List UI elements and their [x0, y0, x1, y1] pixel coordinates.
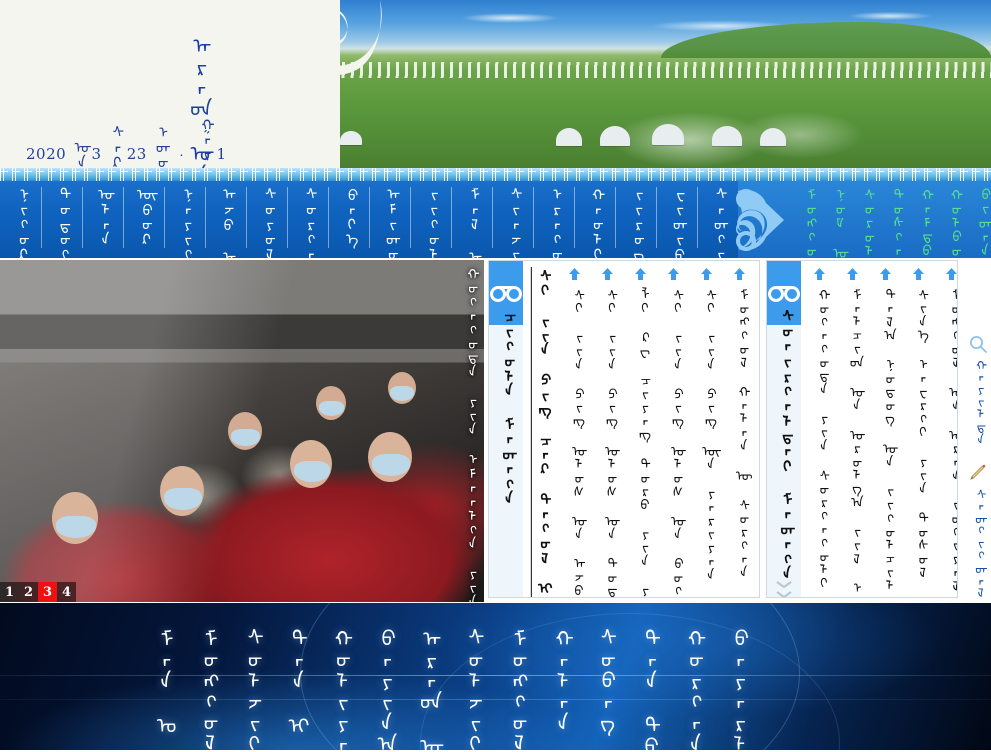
bullet-arrow-icon	[569, 268, 580, 280]
face-mask-icon	[294, 461, 330, 482]
site-header: 人民网 mongol.people.cn ᠠᠷᠠᠳ ᠤᠨ ᠰᠦᠯᠵᠢᠶ᠎ᠡ 20…	[0, 0, 991, 168]
footer-slogan-word: ᠰᠦᠯᠵᠢᠶ᠎ᠡ	[238, 627, 262, 750]
bullet-arrow-icon	[880, 268, 891, 280]
face-mask-icon	[231, 429, 260, 446]
news-item-text: ᠮᠠᠯᠴᠢᠳ ᠤᠨ ᠣᠷᠣᠯᠭ᠎ᠠ ᠵᠢᠯ ᠡᠴᠡ ᠵᠢᠯ ᠨᠡᠮᠡᠭᠳᠡᠵᠦ …	[845, 287, 861, 597]
nav-sub-item-label: ᠬᠠᠮᠲᠤ ᠠᠵᠢᠯᠯᠠᠭ᠎ᠠ	[916, 187, 932, 258]
nav-sub-item-1[interactable]: ᠨᠣᠮ ᠤᠨ ᠰᠠᠩ	[823, 187, 852, 258]
bullet-arrow-icon	[847, 268, 858, 280]
main-content: ᠬᠥᠬᠡᠬᠣᠲᠠ ᠶᠢᠨ ᠡᠮᠨᠡᠯᠭᠡ ᠶᠢᠨ ᠲᠤᠰᠠᠯᠠᠮᠵᠢ ᠶᠢᠨ ᠠ…	[0, 258, 991, 603]
nav-item-label: ᠵᠢᠷᠤᠭ ᠰᠡᠭᠦᠳᠡᠷ	[627, 186, 644, 258]
nav-secondary-panel: ᠮᠣᠩᠭᠣᠯ ᠰᠤᠷᠭᠠᠯᠨᠣᠮ ᠤᠨ ᠰᠠᠩᠰᠤᠷᠤᠯᠭ᠎ᠠᠲᠤᠰᠬᠠᠢ ᠰᠡ…	[738, 181, 991, 258]
nav-item-label: ᠡᠷᠡᠭᠦᠯ ᠮᠡᠨᠳᠦ	[545, 186, 562, 258]
footer-slogan-word: ᠮᠣᠩᠭᠣᠯ	[194, 627, 218, 750]
page-root: 人民网 mongol.people.cn ᠠᠷᠠᠳ ᠤᠨ ᠰᠦᠯᠵᠢᠶ᠎ᠡ 20…	[0, 0, 991, 752]
panel-tab-featured: ᠰᠣᠨᠢᠷᠬᠠᠯᠲᠠᠢ ᠮᠡᠳᠡᠭᠡ	[767, 261, 801, 597]
face-mask-icon	[319, 401, 344, 416]
bullet-arrow-icon	[602, 267, 613, 285]
nav-item-label: ᠮᠠᠯ ᠠᠵᠤ ᠠᠬᠤᠢ	[463, 186, 480, 258]
nav-item-1[interactable]: ᠳᠣᠲᠣᠭᠠᠳᠤ ᠮᠡᠳᠡᠭᠡ	[41, 181, 82, 258]
bullet-arrow-icon	[668, 267, 679, 285]
news-item[interactable]: ᠥᠪᠥᠷ ᠮᠣᠩᠭᠣᠯ ᠤᠨ ᠠᠵᠤ ᠠᠬᠤᠢ ᠲᠣᠭᠲᠠᠭᠤᠨ ᠬᠥᠭᠵᠢᠵᠦ…	[756, 267, 759, 591]
bullet-arrow-icon	[880, 267, 891, 285]
nav-item-10[interactable]: ᠵᠢᠭᠤᠯᠴᠢᠯᠠᠯ	[410, 181, 451, 258]
footer-slogan-word: ᠮᠠᠨ ᠤ	[150, 627, 174, 735]
nav-item-13[interactable]: ᠡᠷᠡᠭᠦᠯ ᠮᠡᠨᠳᠦ	[533, 181, 574, 258]
main-navigation: ᠨᠢᠭᠤᠷ ᠬᠠᠭᠤᠳᠠᠰᠤᠳᠣᠲᠣᠭᠠᠳᠤ ᠮᠡᠳᠡᠭᠡᠣᠯᠠᠨ ᠤᠯᠤᠰᠥᠪ…	[0, 181, 991, 258]
nav-item-label: ᠬᠠᠤᠯᠢ ᠴᠠᠭᠠᠵᠠ	[586, 186, 603, 258]
news-list-featured: ᠬᠥᠬᠡᠬᠣᠲᠠ ᠶᠢᠨ ᠰᠤᠷᠭᠠᠭᠤᠯᠢ ᠨᠤᠭᠤᠳ ᠬᠢᠴᠢᠶᠡᠯ ᠡᠬᠢ…	[801, 261, 957, 597]
footer-slogan-word: ᠰᠦᠯᠵᠢᠶ᠎ᠡ	[459, 627, 483, 750]
footer-slogan-word: ᠮᠣᠩᠭᠣᠯ	[503, 627, 527, 750]
news-headline-text: ᠰᠢ ᠵᠢᠨ ᠫᠢᠩ ᠴᠠᠷ ᠲᠠᠬᠤᠯ ᠢ ᠰᠡᠷᠭᠡᠶᠢᠯᠡᠨ ᠬᠢᠵᠢᠭ …	[533, 267, 550, 597]
cloud-icon	[768, 283, 800, 305]
bullet-arrow-icon	[701, 268, 712, 280]
news-item-text: ᠰᠢ ᠵᠢᠨ ᠫᠢᠩ ᠤᠯᠤᠰ ᠤᠨ ᠠᠵᠤ ᠠᠬᠤᠢ ᠶᠢ ᠰᠡᠷᠭᠦᠭᠡᠬᠦ…	[567, 287, 583, 597]
news-item-text: ᠲᠠᠯ᠎ᠠ ᠨᠤᠲᠤᠭ ᠤᠨ ᠵᠢᠭᠤᠯᠴᠢᠯᠠᠯ ᠤᠨ ᠤᠯᠠᠷᠢᠯ ᠡᠬᠢᠯ…	[878, 287, 894, 597]
nav-item-7[interactable]: ᠰᠤᠷᠭᠠᠨ ᠬᠥᠮᠦᠵᠢᠯ	[287, 181, 328, 258]
header-branding: 人民网 mongol.people.cn ᠠᠷᠠᠳ ᠤᠨ ᠰᠦᠯᠵᠢᠶ᠎ᠡ 20…	[0, 0, 340, 168]
bullet-arrow-icon	[946, 268, 957, 280]
nav-item-label: ᠠᠵᠤ ᠠᠬᠤᠢ	[217, 186, 234, 258]
carousel-page-4[interactable]: 4	[57, 582, 76, 602]
footer-slogan-word: ᠪᠠᠶᠢᠨ᠎ᠠ	[371, 627, 395, 750]
footer-slogan-word: ᠪᠠᠶᠠᠷᠯᠠᠯ᠎ᠠ	[724, 627, 748, 750]
news-item[interactable]: ᠰᠢ ᠵᠢᠨ ᠫᠢᠩ ᠤᠯᠤᠰ ᠤᠨ ᠪᠥᠬᠦ ᠠᠷᠠᠳ ᠲᠦᠮᠡᠨ ᠳᠦ ᠪᠠ…	[657, 267, 690, 591]
nav-item-label: ᠥᠪᠥᠷ ᠮᠣᠩᠭᠣᠯ	[135, 186, 152, 258]
bullet-arrow-icon	[946, 267, 957, 285]
news-item[interactable]: ᠰᠢ ᠵᠢᠨ ᠫᠢᠩ ᠤᠯᠤᠰ ᠤᠨ ᠠᠵᠤ ᠠᠬᠤᠢ ᠶᠢ ᠰᠡᠷᠭᠦᠭᠡᠬᠦ…	[558, 267, 591, 591]
nav-item-0[interactable]: ᠨᠢᠭᠤᠷ ᠬᠠᠭᠤᠳᠠᠰᠤ	[0, 181, 41, 258]
footer-slogan-word: ᠲᠠᠨ ᠳᠤ	[636, 627, 660, 750]
news-item[interactable]: ᠮᠣᠩᠭᠣᠯ ᠬᠡᠯᠡᠨ ᠦ ᠰᠤᠷᠭᠠᠨ ᠬᠥᠮᠦᠵᠢᠯ ᠦᠨ ᠠᠵᠢᠯ ᠢ …	[723, 267, 756, 591]
cloud-icon	[490, 283, 522, 305]
nav-sub-item-5[interactable]: ᠬᠣᠯᠪᠣᠭ᠎ᠠ	[939, 187, 968, 258]
yurt-icon	[760, 128, 786, 146]
news-item-text: ᠮᠣᠩᠭᠣᠯ ᠬᠡᠯᠡᠨ ᠦ ᠰᠤᠷᠭᠠᠨ ᠬᠥᠮᠦᠵᠢᠯ ᠦᠨ ᠠᠵᠢᠯ ᠢ …	[732, 287, 748, 597]
nav-item-3[interactable]: ᠥᠪᠥᠷ ᠮᠣᠩᠭᠣᠯ	[123, 181, 164, 258]
bullet-arrow-icon	[701, 267, 712, 285]
news-panel-featured: ᠰᠣᠨᠢᠷᠬᠠᠯᠲᠠᠢ ᠮᠡᠳᠡᠭᠡ ᠬᠥᠬᠡᠬᠣᠲᠠ ᠶᠢᠨ ᠰᠤᠷᠭᠠᠭ	[766, 260, 958, 598]
face-mask-icon	[56, 516, 96, 538]
nav-primary-items: ᠨᠢᠭᠤᠷ ᠬᠠᠭᠤᠳᠠᠰᠤᠳᠣᠲᠣᠭᠠᠳᠤ ᠮᠡᠳᠡᠭᠡᠣᠯᠠᠨ ᠤᠯᠤᠰᠥᠪ…	[0, 181, 738, 258]
bullet-arrow-icon	[734, 267, 745, 285]
bullet-arrow-icon	[569, 267, 580, 285]
bullet-arrow-icon	[814, 268, 825, 280]
bullet-arrow-icon	[913, 268, 924, 280]
news-item-text: ᠰᠢ ᠵᠢᠨ ᠫᠢᠩ ᠦᠨ ᠶᠠᠷᠢᠶᠠᠨ ᠤ ᠰᠦᠨᠡᠰᠦ ᠶᠢ ᠭᠦᠨᠵᠡᠭ…	[699, 287, 715, 597]
news-item[interactable]: ᠰᠢ ᠵᠢᠨ ᠫᠢᠩ ᠦᠨ ᠶᠠᠷᠢᠶᠠᠨ ᠤ ᠰᠦᠨᠡᠰᠦ ᠶᠢ ᠭᠦᠨᠵᠡᠭ…	[690, 267, 723, 591]
nav-sub-item-2[interactable]: ᠰᠤᠷᠤᠯᠭ᠎ᠠ	[852, 187, 881, 258]
nav-item-label: ᠠᠮᠢᠳᠤᠷᠠᠯ	[381, 186, 398, 258]
nav-sub-item-3[interactable]: ᠲᠤᠰᠬᠠᠢ ᠰᠡᠳᠦᠪ	[881, 187, 910, 258]
face-mask-icon	[164, 488, 202, 510]
nav-sub-item-label: ᠪᠢᠳᠡᠨ ᠦ ᠲᠤᠬᠠᠢ	[974, 187, 990, 258]
news-item[interactable]: ᠬᠥᠬᠡᠬᠣᠲᠠ ᠶᠢᠨ ᠰᠤᠷᠭᠠᠭᠤᠯᠢ ᠨᠤᠭᠤᠳ ᠬᠢᠴᠢᠶᠡᠯ ᠡᠬᠢ…	[803, 267, 836, 591]
yurt-icon	[556, 128, 582, 146]
nav-item-label: ᠳᠣᠲᠣᠭᠠᠳᠤ ᠮᠡᠳᠡᠭᠡ	[53, 186, 70, 258]
news-list-headlines: ᠰᠢ ᠵᠢᠨ ᠫᠢᠩ ᠴᠠᠷ ᠲᠠᠬᠤᠯ ᠢ ᠰᠡᠷᠭᠡᠶᠢᠯᠡᠨ ᠬᠢᠵᠢᠭ …	[523, 261, 759, 597]
nav-sub-item-label: ᠬᠣᠯᠪᠣᠭ᠎ᠠ	[945, 187, 961, 258]
date-day-label: ᠡᠳᠦᠷ	[151, 124, 168, 169]
date-month-label: ᠰᠠᠷ᠎ᠠ	[105, 124, 122, 169]
bullet-arrow-icon	[913, 267, 924, 285]
footer-slogan-word: ᠠᠷᠠᠳ ᠤᠨ	[415, 627, 439, 750]
nav-item-14[interactable]: ᠬᠠᠤᠯᠢ ᠴᠠᠭᠠᠵᠠ	[574, 181, 615, 258]
news-item-text: ᠯᠢ ᠺᠧ ᠴᠢᠶᠠᠩ ᠲᠥᠷᠥ ᠶᠢᠨ ᠶᠠᠪᠤᠳᠠᠯ ᠤᠨ ᠬᠣᠷᠢᠶᠠᠨ …	[633, 287, 649, 597]
nav-item-6[interactable]: ᠰᠤᠶᠤᠯ ᠤᠷᠠᠯᠢᠭ	[246, 181, 287, 258]
search-button[interactable]: ᠬᠠᠶᠢᠯᠲᠠ	[968, 334, 988, 445]
nav-sub-item-label: ᠲᠤᠰᠬᠠᠢ ᠰᠡᠳᠦᠪ	[887, 187, 903, 258]
header-date: 2020 ᠣᠨ 3 ᠰᠠᠷ᠎ᠠ 23 ᠡᠳᠦᠷ · ᠭᠠᠷᠠᠭ 1	[26, 116, 227, 168]
chevron-down-icon	[775, 580, 793, 589]
nav-sub-item-0[interactable]: ᠮᠣᠩᠭᠣᠯ ᠰᠤᠷᠭᠠᠯ	[794, 187, 823, 258]
panel-title: ᠰᠣᠨᠢᠷᠬᠠᠯᠲᠠᠢ ᠮᠡᠳᠡᠭᠡ	[775, 307, 792, 580]
bullet-arrow-icon	[734, 268, 745, 280]
bullet-arrow-icon	[847, 267, 858, 285]
news-item[interactable]: ᠮᠣᠩᠭᠣᠯ ᠤᠨ ᠤᠷᠠᠨ ᠵᠣᠬᠢᠶᠠᠯ ᠤᠨ ᠤᠷᠤᠯᠳᠤᠭᠠᠨ ᠶᠠᠪᠤ…	[935, 267, 957, 591]
news-item-text: ᠬᠥᠬᠡᠬᠣᠲᠠ ᠶᠢᠨ ᠰᠤᠷᠭᠠᠭᠤᠯᠢ ᠨᠤᠭᠤᠳ ᠬᠢᠴᠢᠶᠡᠯ ᠡᠬᠢ…	[812, 287, 828, 597]
bullet-arrow-icon	[635, 268, 646, 280]
nav-item-17[interactable]: ᠰᠡᠳᠬᠢᠭᠳᠡᠯ	[697, 181, 738, 258]
nav-sub-item-label: ᠰᠤᠷᠤᠯᠭ᠎ᠠ	[858, 187, 874, 258]
nav-item-label: ᠨᠢᠭᠤᠷ ᠬᠠᠭᠤᠳᠠᠰᠤ	[12, 186, 29, 258]
news-item[interactable]: ᠲᠠᠯ᠎ᠠ ᠨᠤᠲᠤᠭ ᠤᠨ ᠵᠢᠭᠤᠯᠴᠢᠯᠠᠯ ᠤᠨ ᠤᠯᠠᠷᠢᠯ ᠡᠬᠢᠯ…	[869, 267, 902, 591]
nav-item-16[interactable]: ᠸᠢᠳᠢᠣ᠋	[656, 181, 697, 258]
date-weekday: 1	[217, 145, 227, 163]
nav-item-12[interactable]: ᠰᠢᠨᠵᠢᠯᠡᠬᠦ ᠤᠬᠠᠭᠠᠨ	[492, 181, 533, 258]
nav-sub-item-4[interactable]: ᠬᠠᠮᠲᠤ ᠠᠵᠢᠯᠯᠠᠭ᠎ᠠ	[910, 187, 939, 258]
date-day: 23	[127, 145, 147, 163]
nav-item-label: ᠰᠢᠨᠵᠢᠯᠡᠬᠦ ᠤᠬᠠᠭᠠᠨ	[504, 186, 521, 258]
tool-rail: ᠬᠠᠶᠢᠯᠲᠠ ᠰᠡᠳᠬᠢᠭᠳᠡᠯ ᠪᠢᠴᠢᠬᠦ	[958, 260, 991, 603]
date-year: 2020	[26, 145, 66, 163]
edit-icon	[968, 463, 988, 483]
footer-banner: ᠮᠠᠨ ᠤᠮᠣᠩᠭᠣᠯᠰᠦᠯᠵᠢᠶ᠎ᠡᠲᠠᠨ ᠢᠬᠦᠯᠢᠶᠡᠵᠦᠪᠠᠶᠢᠨ᠎ᠠᠠ…	[0, 603, 991, 750]
nav-item-9[interactable]: ᠠᠮᠢᠳᠤᠷᠠᠯ	[369, 181, 410, 258]
news-item[interactable]: ᠮᠠᠯᠴᠢᠳ ᠤᠨ ᠣᠷᠣᠯᠭ᠎ᠠ ᠵᠢᠯ ᠡᠴᠡ ᠵᠢᠯ ᠨᠡᠮᠡᠭᠳᠡᠵᠦ …	[836, 267, 869, 591]
nav-item-label: ᠰᠤᠷᠭᠠᠨ ᠬᠥᠮᠦᠵᠢᠯ	[299, 186, 316, 258]
nav-item-15[interactable]: ᠵᠢᠷᠤᠭ ᠰᠡᠭᠦᠳᠡᠷ	[615, 181, 656, 258]
chevron-down-icon	[775, 590, 793, 598]
nav-item-label: ᠪᠡᠶ᠎ᠡ ᠲᠠᠮᠢᠷ	[340, 186, 357, 258]
bullet-arrow-icon	[668, 268, 679, 280]
meander-border	[0, 168, 991, 181]
bullet-arrow-icon	[814, 267, 825, 285]
nav-item-2[interactable]: ᠣᠯᠠᠨ ᠤᠯᠤᠰ	[82, 181, 123, 258]
nav-item-4[interactable]: ᠨᠡᠶᠢᠭᠡᠮ	[164, 181, 205, 258]
news-area: ᠴᠢᠬᠤᠯᠠ ᠮᠡᠳᠡᠭᠡ ᠰᠢ ᠵᠢᠨ ᠫᠢᠩ ᠴᠠᠷ ᠲᠠᠬᠤᠯ ᠢ ᠰᠡᠷ…	[484, 260, 991, 603]
face-mask-icon	[390, 386, 414, 401]
nav-item-label: ᠣᠯᠠᠨ ᠤᠯᠤᠰ	[94, 186, 111, 258]
nav-item-5[interactable]: ᠠᠵᠤ ᠠᠬᠤᠢ	[205, 181, 246, 258]
footer-slogan-word: ᠬᠡᠯᠡᠨ ᠦ	[547, 627, 571, 750]
news-item-text: ᠰᠢᠨ᠎ᠡ ᠡᠨᠧᠷᠭᠢ ᠶᠢᠨ ᠲᠥᠰᠥᠯ ᠠᠰᠢᠭᠯᠠᠯᠲᠠ ᠳᠤ ᠣᠷᠣᠪ…	[911, 287, 927, 597]
search-icon	[968, 334, 988, 354]
date-separator: ·	[179, 146, 184, 162]
nav-item-label: ᠰᠤᠶᠤᠯ ᠤᠷᠠᠯᠢᠭ	[258, 186, 275, 258]
footer-slogan-word: ᠬᠦᠯᠢᠶᠡᠵᠦ	[327, 627, 351, 750]
nav-secondary-items: ᠮᠣᠩᠭᠣᠯ ᠰᠤᠷᠭᠠᠯᠨᠣᠮ ᠤᠨ ᠰᠠᠩᠰᠤᠷᠤᠯᠭ᠎ᠠᠲᠤᠰᠬᠠᠢ ᠰᠡ…	[794, 181, 991, 258]
carousel-page-1[interactable]: 1	[0, 582, 19, 602]
carousel-page-3[interactable]: 3	[38, 582, 57, 602]
nav-sub-item-label: ᠨᠣᠮ ᠤᠨ ᠰᠠᠩ	[829, 187, 845, 258]
bullet-arrow-icon	[602, 268, 613, 280]
nav-sub-item-6[interactable]: ᠪᠢᠳᠡᠨ ᠦ ᠲᠤᠬᠠᠢ	[968, 187, 991, 258]
news-item-text: ᠮᠣᠩᠭᠣᠯ ᠤᠨ ᠤᠷᠠᠨ ᠵᠣᠬᠢᠶᠠᠯ ᠤᠨ ᠤᠷᠤᠯᠳᠤᠭᠠᠨ ᠶᠠᠪᠤ…	[944, 287, 957, 597]
footer-slogan: ᠮᠠᠨ ᠤᠮᠣᠩᠭᠣᠯᠰᠦᠯᠵᠢᠶ᠎ᠡᠲᠠᠨ ᠢᠬᠦᠯᠢᠶᠡᠵᠦᠪᠠᠶᠢᠨ᠎ᠠᠠ…	[150, 627, 748, 750]
face-mask-icon	[372, 454, 410, 476]
nav-item-label: ᠵᠢᠭᠤᠯᠴᠢᠯᠠᠯ	[422, 186, 439, 258]
news-item[interactable]: ᠰᠢ ᠵᠢᠨ ᠫᠢᠩ ᠤᠯᠤᠰ ᠤᠨ ᠳᠣᠲᠣᠭᠠᠳᠤ ᠭᠠᠳᠠᠭᠠᠳᠤ ᠶᠢᠨ…	[591, 267, 624, 591]
panel-tab-headlines: ᠴᠢᠬᠤᠯᠠ ᠮᠡᠳᠡᠭᠡ	[489, 261, 523, 597]
nav-item-label: ᠸᠢᠳᠢᠣ᠋	[668, 186, 685, 258]
show-more-button[interactable]	[775, 580, 793, 598]
news-item[interactable]: ᠯᠢ ᠺᠧ ᠴᠢᠶᠠᠩ ᠲᠥᠷᠥ ᠶᠢᠨ ᠶᠠᠪᠤᠳᠠᠯ ᠤᠨ ᠬᠣᠷᠢᠶᠠᠨ …	[624, 267, 657, 591]
date-month: 3	[91, 145, 101, 163]
yurt-icon	[340, 131, 362, 145]
carousel-pagination: 1234	[0, 582, 76, 602]
nav-sub-item-label: ᠮᠣᠩᠭᠣᠯ ᠰᠤᠷᠭᠠᠯ	[800, 187, 816, 258]
nav-item-8[interactable]: ᠪᠡᠶ᠎ᠡ ᠲᠠᠮᠢᠷ	[328, 181, 369, 258]
news-item-text: ᠰᠢ ᠵᠢᠨ ᠫᠢᠩ ᠤᠯᠤᠰ ᠤᠨ ᠳᠣᠲᠣᠭᠠᠳᠤ ᠭᠠᠳᠠᠭᠠᠳᠤ ᠶᠢᠨ…	[600, 287, 616, 597]
date-year-label: ᠣᠨ	[70, 139, 87, 169]
news-item[interactable]: ᠰᠢᠨ᠎ᠡ ᠡᠨᠧᠷᠭᠢ ᠶᠢᠨ ᠲᠥᠰᠥᠯ ᠠᠰᠢᠭᠯᠠᠯᠲᠠ ᠳᠤ ᠣᠷᠣᠪ…	[902, 267, 935, 591]
carousel-caption: ᠬᠥᠬᠡᠬᠣᠲᠠ ᠶᠢᠨ ᠡᠮᠨᠡᠯᠭᠡ ᠶᠢᠨ ᠲᠤᠰᠠᠯᠠᠮᠵᠢ ᠶᠢᠨ ᠠ…	[462, 266, 478, 566]
news-headline[interactable]: ᠰᠢ ᠵᠢᠨ ᠫᠢᠩ ᠴᠠᠷ ᠲᠠᠬᠤᠯ ᠢ ᠰᠡᠷᠭᠡᠶᠢᠯᠡᠨ ᠬᠢᠵᠢᠭ …	[525, 267, 558, 591]
nav-cloud-arrow-decoration	[738, 181, 794, 258]
panel-title: ᠴᠢᠬᠤᠯᠠ ᠮᠡᠳᠡᠭᠡ	[497, 307, 514, 505]
footer-slogan-word: ᠬᠦᠷᠭᠡᠨ᠎ᠡ	[680, 627, 704, 750]
search-label: ᠬᠠᠶᠢᠯᠲᠠ	[971, 357, 985, 445]
nav-item-11[interactable]: ᠮᠠᠯ ᠠᠵᠤ ᠠᠬᠤᠢ	[451, 181, 492, 258]
news-item-text: ᠰᠢ ᠵᠢᠨ ᠫᠢᠩ ᠤᠯᠤᠰ ᠤᠨ ᠪᠥᠬᠦ ᠠᠷᠠᠳ ᠲᠦᠮᠡᠨ ᠳᠦ ᠪᠠ…	[666, 287, 682, 597]
bullet-arrow-icon	[635, 267, 646, 285]
footer-slogan-word: ᠲᠠᠨ ᠢ	[282, 627, 306, 735]
nav-item-label: ᠰᠡᠳᠬᠢᠭᠳᠡᠯ	[709, 186, 726, 258]
carousel-page-2[interactable]: 2	[19, 582, 38, 602]
nav-item-label: ᠨᠡᠶᠢᠭᠡᠮ	[176, 186, 193, 258]
date-weekday-label: ᠭᠠᠷᠠᠭ	[195, 116, 212, 168]
footer-slogan-word: ᠰᠤᠪᠠᠭ	[591, 627, 615, 732]
photo-carousel[interactable]: ᠬᠥᠬᠡᠬᠣᠲᠠ ᠶᠢᠨ ᠡᠮᠨᠡᠯᠭᠡ ᠶᠢᠨ ᠲᠤᠰᠠᠯᠠᠮᠵᠢ ᠶᠢᠨ ᠠ…	[0, 260, 484, 602]
news-panel-headlines: ᠴᠢᠬᠤᠯᠠ ᠮᠡᠳᠡᠭᠡ ᠰᠢ ᠵᠢᠨ ᠫᠢᠩ ᠴᠠᠷ ᠲᠠᠬᠤᠯ ᠢ ᠰᠡᠷ…	[488, 260, 760, 598]
